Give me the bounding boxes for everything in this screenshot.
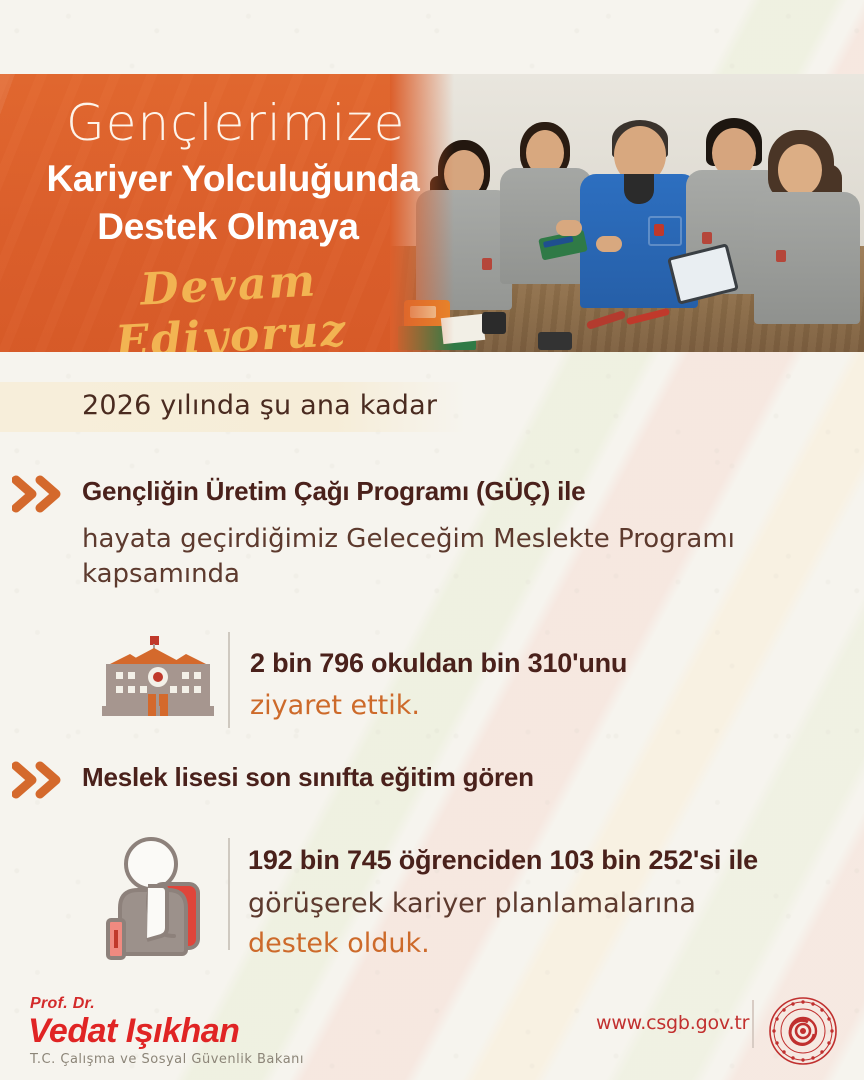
block-1-subtitle-line-1: hayata geçirdiğimiz Geleceğim Meslekte P… (82, 522, 822, 557)
year-band-label: 2026 yılında şu ana kadar (82, 390, 437, 421)
stat-2-line-3: destek olduk. (248, 928, 430, 959)
stat-divider-2 (228, 838, 230, 950)
photo-student-4 (750, 130, 860, 322)
header-line-1: Gençlerimize (66, 94, 405, 152)
school-building-icon (100, 634, 216, 724)
stat-divider-1 (228, 632, 230, 728)
infographic-poster: Gençlerimize Kariyer Yolculuğunda Destek… (0, 0, 864, 1080)
block-1-subtitle-line-2: kapsamında (82, 557, 822, 592)
turkey-ministry-emblem-icon (768, 996, 838, 1066)
stat-2-line-1: 192 bin 745 öğrenciden 103 bin 252'si il… (248, 845, 758, 876)
block-1-subtitle: hayata geçirdiğimiz Geleceğim Meslekte P… (82, 522, 822, 593)
stat-2-line-2: görüşerek kariyer planlamalarına (248, 888, 696, 919)
minister-name: Vedat Işıkhan (28, 1012, 239, 1051)
header-line-2: Kariyer Yolculuğunda (18, 158, 448, 200)
website-url[interactable]: www.csgb.gov.tr (596, 1012, 749, 1034)
photo-device (538, 332, 572, 350)
stat-1-line-2: ziyaret ettik. (250, 690, 420, 721)
photo-hand-right (596, 236, 622, 252)
header-text-group: Gençlerimize Kariyer Yolculuğunda Destek… (0, 74, 474, 352)
student-with-backpack-icon (104, 836, 220, 962)
photo-component-block (482, 312, 506, 334)
minister-role: T.C. Çalışma ve Sosyal Güvenlik Bakanı (30, 1052, 304, 1067)
double-chevron-right-icon (12, 474, 68, 514)
double-chevron-right-icon (12, 760, 68, 800)
minister-title-prefix: Prof. Dr. (30, 995, 95, 1013)
block-2-title: Meslek lisesi son sınıfta eğitim gören (82, 762, 534, 793)
footer-divider (752, 1000, 754, 1048)
stat-1-line-1: 2 bin 796 okuldan bin 310'unu (250, 648, 627, 679)
header-banner: Gençlerimize Kariyer Yolculuğunda Destek… (0, 74, 864, 352)
header-script-line: Devam Ediyoruz (38, 250, 423, 352)
photo-hand-left (556, 220, 582, 236)
block-1-title: Gençliğin Üretim Çağı Programı (GÜÇ) ile (82, 476, 585, 507)
header-line-3: Destek Olmaya (18, 206, 438, 248)
